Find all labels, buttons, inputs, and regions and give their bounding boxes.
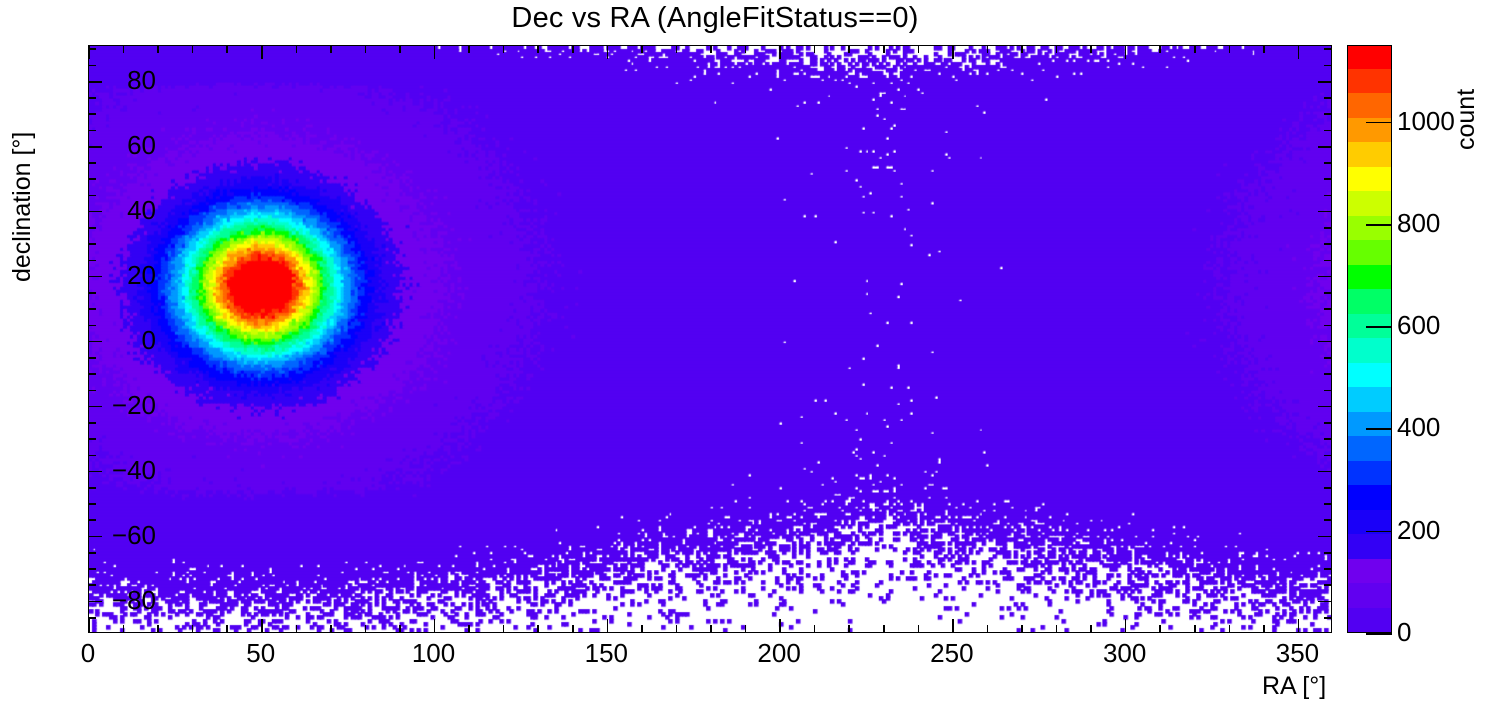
y-tick-label: 40 (127, 197, 156, 223)
axis-tick (814, 46, 816, 53)
axis-tick (952, 619, 954, 632)
axis-tick (641, 625, 643, 632)
axis-tick (1318, 341, 1331, 343)
colorbar-tick-label: 600 (1397, 312, 1440, 338)
axis-tick (1324, 292, 1331, 294)
axis-tick (1125, 619, 1127, 632)
y-tick-label: 80 (127, 67, 156, 93)
axis-tick (918, 625, 920, 632)
axis-tick (89, 503, 96, 505)
axis-tick (1324, 65, 1331, 67)
axis-tick (745, 46, 747, 53)
axis-tick (89, 519, 96, 521)
colorbar-band (1348, 117, 1391, 143)
axis-tick (1318, 536, 1331, 538)
axis-tick (1324, 455, 1331, 457)
axis-tick (89, 292, 96, 294)
axis-tick (88, 619, 90, 632)
axis-tick (89, 487, 96, 489)
axis-tick (226, 625, 228, 632)
axis-tick (399, 46, 401, 53)
colorbar-tick-label: 400 (1397, 414, 1440, 440)
axis-tick (89, 406, 102, 408)
y-tick-label: −60 (112, 522, 156, 548)
axis-tick (89, 422, 96, 424)
colorbar-band (1348, 215, 1391, 241)
axis-tick (814, 625, 816, 632)
colorbar-tick (1366, 224, 1392, 226)
colorbar-band (1348, 386, 1391, 412)
axis-tick (1318, 601, 1331, 603)
axis-tick (157, 625, 159, 632)
axis-tick (468, 46, 470, 53)
axis-tick (918, 46, 920, 53)
axis-tick (261, 619, 263, 632)
axis-tick (157, 46, 159, 53)
colorbar-tick-label: 1000 (1397, 108, 1455, 134)
axis-tick (1298, 619, 1300, 632)
axis-tick (89, 552, 96, 554)
axis-tick (89, 455, 96, 457)
colorbar-tick (1366, 531, 1392, 533)
axis-tick (365, 46, 367, 53)
y-tick-label: 0 (142, 327, 156, 353)
axis-tick (89, 568, 96, 570)
axis-tick (1324, 584, 1331, 586)
axis-tick (1159, 46, 1161, 53)
axis-tick (779, 46, 781, 59)
colorbar-tick-label: 800 (1397, 210, 1440, 236)
axis-tick (1324, 390, 1331, 392)
axis-tick (89, 113, 96, 115)
axis-tick (676, 46, 678, 53)
axis-tick (1159, 625, 1161, 632)
axis-tick (883, 625, 885, 632)
axis-tick (89, 48, 96, 50)
axis-tick (365, 625, 367, 632)
colorbar-band (1348, 288, 1391, 314)
axis-tick (1318, 471, 1331, 473)
y-tick-label: −80 (112, 587, 156, 613)
axis-tick (89, 243, 96, 245)
colorbar-band (1348, 411, 1391, 437)
colorbar-band (1348, 45, 1391, 69)
axis-tick (89, 341, 102, 343)
axis-tick (1229, 46, 1231, 53)
axis-tick (89, 438, 96, 440)
axis-tick (1324, 48, 1331, 50)
axis-tick (1324, 503, 1331, 505)
colorbar-band (1348, 190, 1391, 216)
axis-tick (537, 46, 539, 53)
axis-tick (1318, 146, 1331, 148)
axis-tick (89, 260, 96, 262)
axis-tick (226, 46, 228, 53)
x-tick-label: 100 (412, 640, 455, 666)
axis-tick (779, 619, 781, 632)
axis-tick (572, 46, 574, 53)
axis-tick (89, 146, 102, 148)
axis-tick (89, 162, 96, 164)
axis-tick (1324, 308, 1331, 310)
axis-tick (503, 46, 505, 53)
axis-tick (1324, 227, 1331, 229)
axis-tick (1229, 625, 1231, 632)
axis-tick (89, 227, 96, 229)
axis-tick (1324, 97, 1331, 99)
axis-tick (883, 46, 885, 53)
axis-tick (607, 619, 609, 632)
colorbar-band (1348, 582, 1391, 608)
colorbar-band (1348, 362, 1391, 388)
colorbar-band (1348, 264, 1391, 290)
colorbar-band (1348, 337, 1391, 363)
axis-tick (261, 46, 263, 59)
axis-tick (1318, 276, 1331, 278)
axis-tick (1298, 46, 1300, 59)
axis-tick (89, 471, 102, 473)
colorbar-band (1348, 533, 1391, 559)
axis-tick (641, 46, 643, 53)
axis-tick (1324, 487, 1331, 489)
axis-tick (123, 625, 125, 632)
axis-tick (848, 625, 850, 632)
axis-tick (89, 325, 96, 327)
axis-tick (1318, 81, 1331, 83)
root-canvas: Dec vs RA (AngleFitStatus==0) 0501001502… (0, 0, 1496, 722)
axis-tick (1324, 195, 1331, 197)
axis-tick (89, 617, 96, 619)
colorbar-band (1348, 239, 1391, 265)
axis-tick (296, 46, 298, 53)
axis-tick (1324, 438, 1331, 440)
axis-tick (1324, 130, 1331, 132)
axis-tick (572, 625, 574, 632)
colorbar-tick-label: 0 (1397, 619, 1411, 645)
axis-tick (89, 536, 102, 538)
colorbar-tick (1366, 633, 1392, 635)
axis-tick (192, 625, 194, 632)
axis-tick (1324, 113, 1331, 115)
axis-tick (330, 625, 332, 632)
axis-tick (468, 625, 470, 632)
axis-tick (89, 178, 96, 180)
axis-tick (1090, 625, 1092, 632)
axis-tick (1021, 625, 1023, 632)
x-tick-label: 150 (585, 640, 628, 666)
x-tick-label: 300 (1103, 640, 1146, 666)
x-tick-label: 200 (757, 640, 800, 666)
axis-tick (1125, 46, 1127, 59)
y-tick-label: 60 (127, 132, 156, 158)
axis-tick (89, 195, 96, 197)
axis-tick (89, 65, 96, 67)
axis-tick (537, 625, 539, 632)
x-tick-label: 50 (246, 640, 275, 666)
axis-tick (952, 46, 954, 59)
axis-tick (89, 373, 96, 375)
axis-tick (1056, 625, 1058, 632)
axis-tick (1324, 617, 1331, 619)
axis-tick (89, 308, 96, 310)
axis-tick (1324, 162, 1331, 164)
axis-tick (1324, 422, 1331, 424)
axis-tick (123, 46, 125, 53)
colorbar-tick (1366, 428, 1392, 430)
heatmap-image[interactable] (89, 46, 1331, 632)
axis-tick (1324, 519, 1331, 521)
x-tick-label: 0 (81, 640, 95, 666)
axis-tick (1324, 260, 1331, 262)
colorbar-title: count (1452, 89, 1481, 150)
x-axis-title: RA [°] (1262, 672, 1326, 701)
axis-tick (987, 625, 989, 632)
axis-tick (1263, 625, 1265, 632)
colorbar-tick (1366, 326, 1392, 328)
axis-tick (89, 81, 102, 83)
colorbar[interactable] (1347, 45, 1392, 633)
page-title: Dec vs RA (AngleFitStatus==0) (0, 2, 1430, 35)
colorbar-band (1348, 435, 1391, 461)
axis-tick (503, 625, 505, 632)
axis-tick (89, 390, 96, 392)
y-tick-label: −20 (112, 392, 156, 418)
axis-tick (1324, 568, 1331, 570)
axis-tick (1056, 46, 1058, 53)
y-axis-title: declination [°] (8, 132, 37, 282)
axis-tick (1194, 46, 1196, 53)
axis-tick (1324, 552, 1331, 554)
axis-tick (987, 46, 989, 53)
axis-tick (330, 46, 332, 53)
x-tick-label: 350 (1276, 640, 1319, 666)
axis-tick (848, 46, 850, 53)
axis-tick (1324, 357, 1331, 359)
axis-tick (676, 625, 678, 632)
axis-tick (1318, 406, 1331, 408)
axis-tick (192, 46, 194, 53)
axis-tick (89, 276, 102, 278)
axis-tick (89, 211, 102, 213)
colorbar-tick-label: 200 (1397, 517, 1440, 543)
colorbar-band (1348, 484, 1391, 510)
axis-tick (434, 46, 436, 59)
axis-tick (1324, 178, 1331, 180)
axis-tick (1021, 46, 1023, 53)
axis-tick (710, 46, 712, 53)
axis-tick (607, 46, 609, 59)
colorbar-tick (1366, 122, 1392, 124)
x-tick-label: 250 (930, 640, 973, 666)
axis-tick (434, 619, 436, 632)
axis-tick (1263, 46, 1265, 53)
axis-tick (1324, 243, 1331, 245)
axis-tick (1324, 325, 1331, 327)
plot-frame[interactable] (88, 45, 1332, 633)
axis-tick (89, 584, 96, 586)
colorbar-band (1348, 166, 1391, 192)
axis-tick (1324, 373, 1331, 375)
axis-tick (710, 625, 712, 632)
axis-tick (399, 625, 401, 632)
colorbar-band (1348, 460, 1391, 486)
axis-tick (1090, 46, 1092, 53)
axis-tick (1194, 625, 1196, 632)
colorbar-band (1348, 68, 1391, 94)
axis-tick (1318, 211, 1331, 213)
y-tick-label: −40 (112, 457, 156, 483)
axis-tick (89, 601, 102, 603)
axis-tick (296, 625, 298, 632)
axis-tick (745, 625, 747, 632)
colorbar-band (1348, 558, 1391, 584)
axis-tick (89, 97, 96, 99)
axis-tick (89, 357, 96, 359)
colorbar-band (1348, 141, 1391, 167)
y-tick-label: 20 (127, 262, 156, 288)
colorbar-band (1348, 607, 1391, 633)
colorbar-band (1348, 92, 1391, 118)
axis-tick (89, 130, 96, 132)
